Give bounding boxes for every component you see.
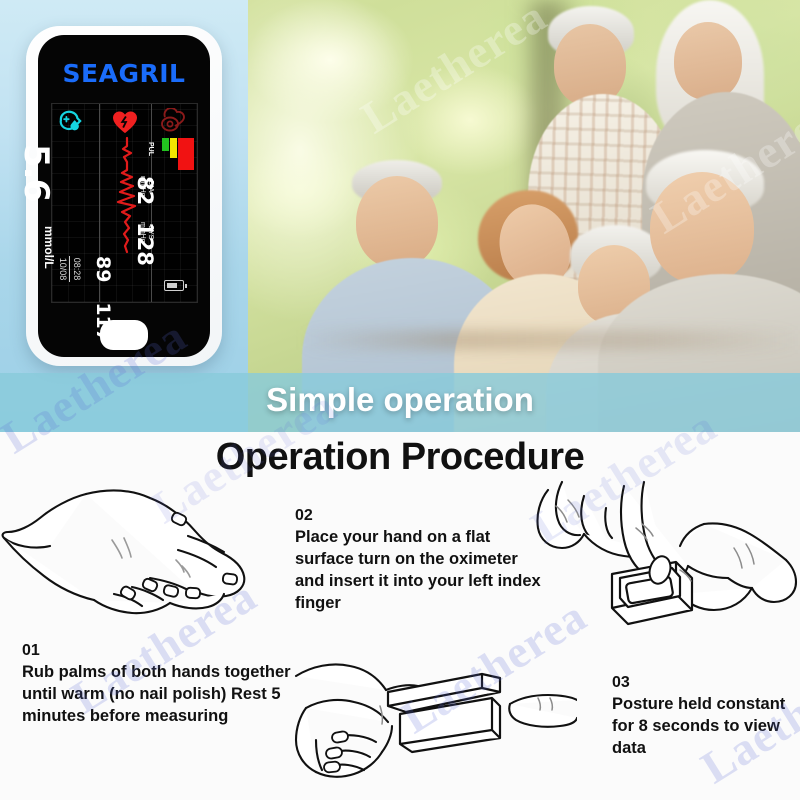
step-3-illustration <box>282 648 577 800</box>
power-button[interactable] <box>100 320 148 350</box>
step-3-number: 03 <box>612 672 800 693</box>
step-2-number: 02 <box>295 505 545 526</box>
glucose-unit: mmol/L <box>42 226 56 269</box>
step-2-body: Place your hand on a flat surface turn o… <box>295 527 545 615</box>
pulse-level-bars <box>162 138 194 170</box>
glucose-value: 5.6 <box>16 144 56 201</box>
battery-icon <box>164 280 184 291</box>
head <box>650 172 754 284</box>
step-1-body: Rub palms of both hands together until w… <box>22 662 292 728</box>
step-2-text: 02 Place your hand on a flat surface tur… <box>295 505 545 615</box>
divider <box>69 256 70 282</box>
step-3-body: Posture held constant for 8 seconds to v… <box>612 694 800 760</box>
bar-yellow <box>170 138 177 158</box>
blood-pressure-cuff-icon <box>159 108 187 134</box>
park-bench <box>300 330 800 350</box>
hero-headline: Simple operation <box>0 381 800 419</box>
blood-pressure-panel: PUL DIA mmHg 82 SYS mmHg 128 <box>152 104 197 302</box>
hero-section: SEAGRIL 5.6 mmol/L 08:28 <box>0 0 800 432</box>
head <box>554 24 626 106</box>
device-screen: 5.6 mmol/L 08:28 10/08 <box>51 103 198 303</box>
dia-value: 82 <box>133 176 157 205</box>
page-title: Operation Procedure <box>0 436 800 479</box>
head <box>356 176 438 268</box>
step-1-number: 01 <box>22 640 292 661</box>
heart-icon <box>112 110 138 134</box>
glucose-timestamp: 08:28 10/08 <box>57 256 83 282</box>
blood-drop-icon <box>58 110 84 132</box>
oximeter-device: SEAGRIL 5.6 mmol/L 08:28 <box>26 26 222 366</box>
brand-logo: SEAGRIL <box>38 59 210 88</box>
step-1-illustration <box>0 488 285 653</box>
ecg-value-left: 89 <box>92 256 114 282</box>
glucose-date: 10/08 <box>58 258 68 281</box>
step-2-illustration <box>528 478 800 653</box>
bar-red <box>178 138 194 170</box>
pulse-label: PUL <box>147 142 154 156</box>
head <box>674 22 742 100</box>
bar-green <box>162 138 169 151</box>
glucose-time: 08:28 <box>72 258 82 281</box>
device-face: SEAGRIL 5.6 mmol/L 08:28 <box>38 35 210 357</box>
sys-value: 128 <box>133 222 157 266</box>
product-infographic: SEAGRIL 5.6 mmol/L 08:28 <box>0 0 800 800</box>
step-3-text: 03 Posture held constant for 8 seconds t… <box>612 672 800 760</box>
step-1-text: 01 Rub palms of both hands together unti… <box>22 640 292 728</box>
